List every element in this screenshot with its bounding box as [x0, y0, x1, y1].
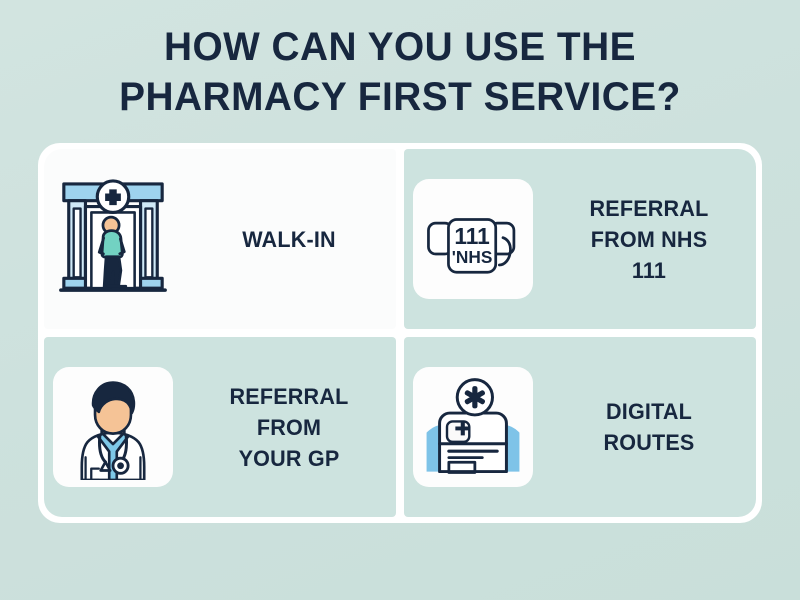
- card-digital-routes-label: DIGITAL ROUTES: [544, 396, 754, 458]
- card-nhs-111-label-line-2: FROM NHS: [554, 224, 744, 255]
- card-walk-in-label: WALK-IN: [184, 224, 394, 255]
- card-digital-routes[interactable]: DIGITAL ROUTES: [404, 337, 756, 517]
- card-gp-referral-label-line-2: FROM: [194, 412, 384, 443]
- digital-form-icon: [413, 367, 533, 487]
- pharmacy-storefront-icon: [53, 179, 173, 299]
- card-nhs-111-label: REFERRAL FROM NHS 111: [544, 193, 754, 286]
- card-walk-in-label-line-1: WALK-IN: [194, 224, 384, 255]
- nhs-111-icon-number: 111: [454, 223, 489, 249]
- page-title-line-2: PHARMACY FIRST SERVICE?: [12, 72, 788, 122]
- card-nhs-111-label-line-3: 111: [554, 255, 744, 286]
- card-gp-referral[interactable]: REFERRAL FROM YOUR GP: [44, 337, 396, 517]
- card-nhs-111-label-line-1: REFERRAL: [554, 193, 744, 224]
- card-digital-routes-icon-slot: [404, 367, 542, 487]
- card-gp-referral-label: REFERRAL FROM YOUR GP: [184, 381, 394, 474]
- card-gp-referral-label-line-1: REFERRAL: [194, 381, 384, 412]
- nhs-111-icon-brand: 'NHS: [452, 247, 493, 267]
- infographic-canvas: HOW CAN YOU USE THE PHARMACY FIRST SERVI…: [0, 0, 800, 600]
- card-nhs-111-icon-slot: 111 'NHS: [404, 179, 542, 299]
- page-title-line-1: HOW CAN YOU USE THE: [12, 22, 788, 72]
- doctor-icon: [53, 367, 173, 487]
- card-digital-routes-label-line-2: ROUTES: [554, 427, 744, 458]
- card-gp-referral-label-line-3: YOUR GP: [194, 443, 384, 474]
- card-walk-in[interactable]: WALK-IN: [44, 149, 396, 329]
- routes-card-grid: WALK-IN: [38, 143, 762, 523]
- card-walk-in-icon-slot: [44, 179, 182, 299]
- card-gp-referral-icon-slot: [44, 367, 182, 487]
- page-title: HOW CAN YOU USE THE PHARMACY FIRST SERVI…: [0, 22, 800, 122]
- card-digital-routes-label-line-1: DIGITAL: [554, 396, 744, 427]
- card-nhs-111[interactable]: 111 'NHS REFERRAL FROM NHS 111: [404, 149, 756, 329]
- nhs-111-phone-icon: 111 'NHS: [413, 179, 533, 299]
